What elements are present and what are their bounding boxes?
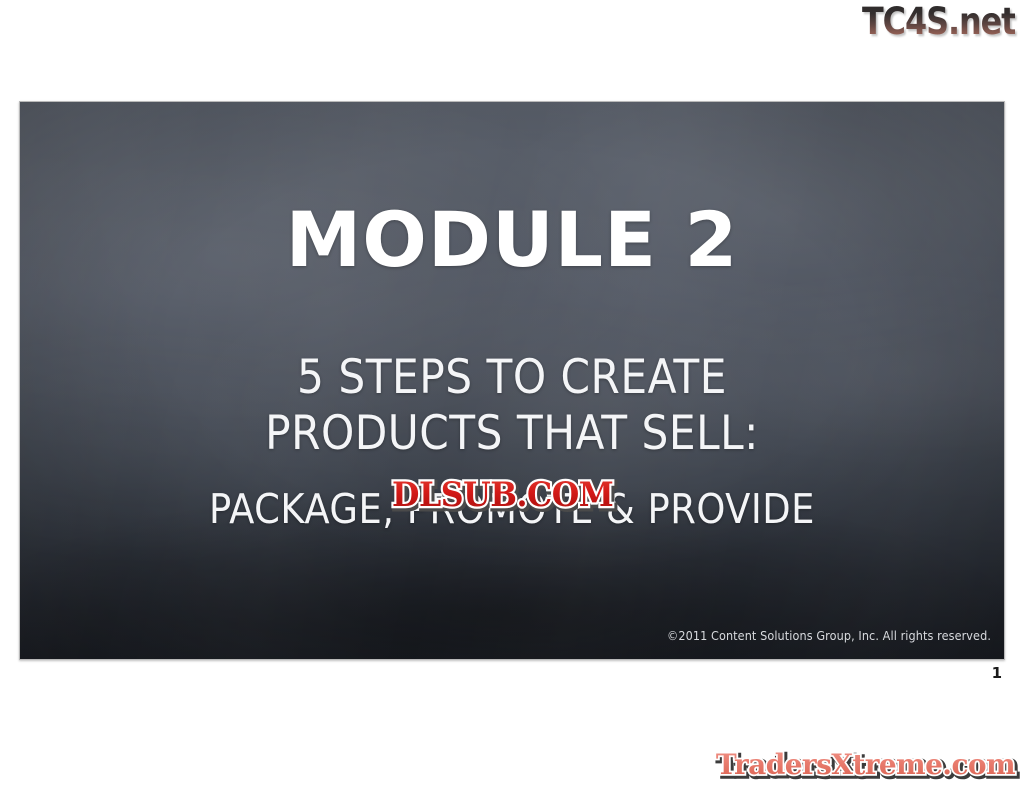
copyright-notice: ©2011 Content Solutions Group, Inc. All … [667,629,991,643]
slide-subtitle-line-2: PRODUCTS THAT SELL: [20,406,1004,462]
footer-logo-fill-layer: TradersXtreme.com [716,748,1015,782]
slide-content: MODULE 2 5 STEPS TO CREATE PRODUCTS THAT… [20,102,1004,659]
page-number: 1 [992,664,1002,682]
presentation-slide: MODULE 2 5 STEPS TO CREATE PRODUCTS THAT… [19,101,1005,660]
slide-title: MODULE 2 [20,198,1004,282]
slide-subtitle-line-1: 5 STEPS TO CREATE [20,350,1004,406]
dlsub-watermark: DLSUB.COM [392,476,613,514]
site-logo: TC4S.net [862,2,1015,42]
